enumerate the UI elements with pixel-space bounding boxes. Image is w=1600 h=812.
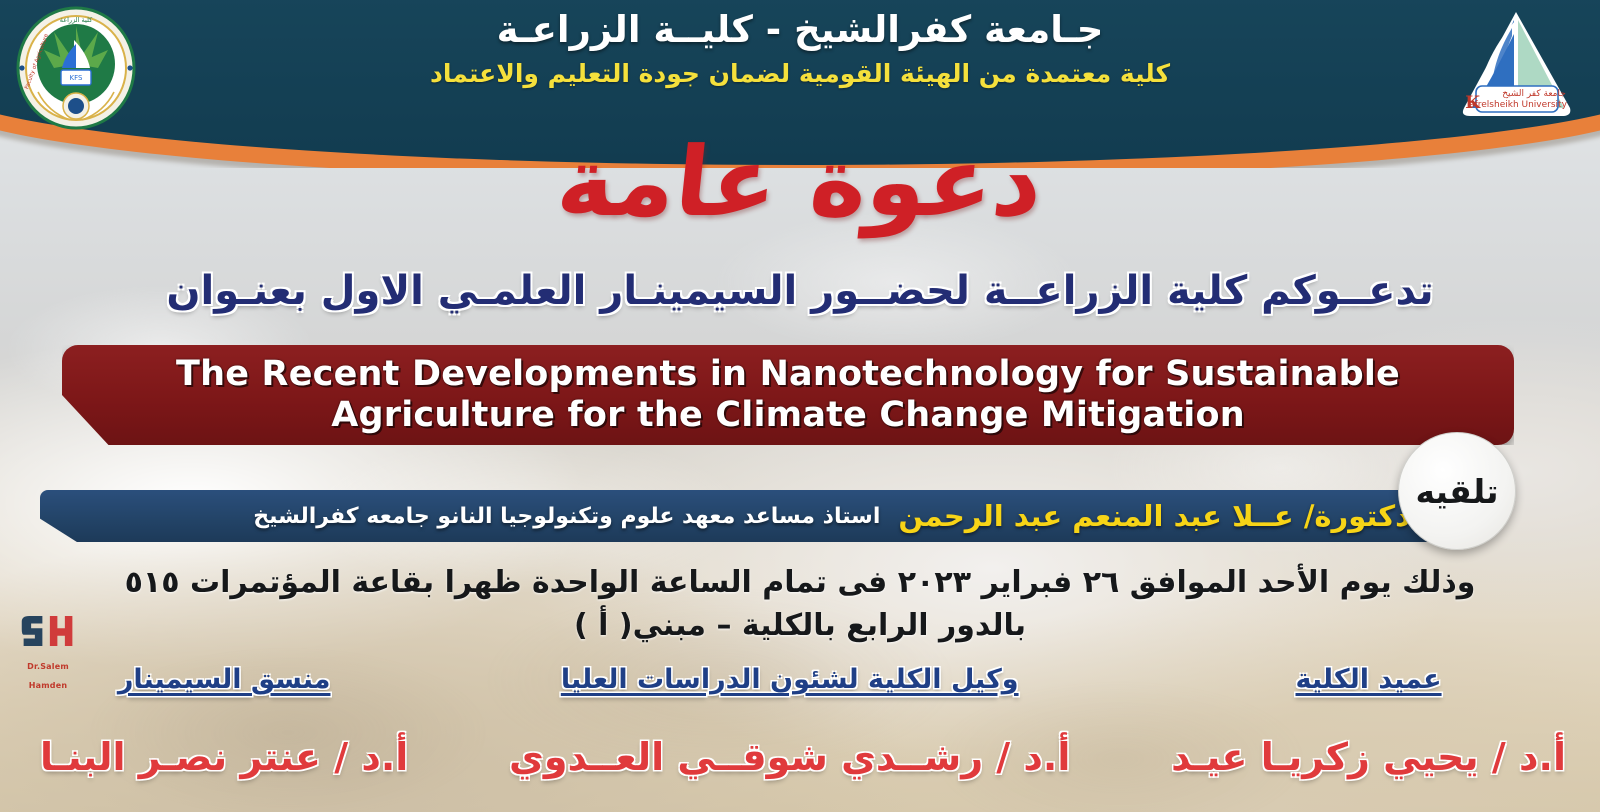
signature-vice-dean: وكيل الكلية لشئون الدراسات العليا أ.د / … [509,664,1070,779]
seminar-poster: جـامعة كفرالشيخ - كليــة الزراعـة كلية م… [0,0,1600,812]
seminar-title-banner: The Recent Developments in Nanotechnolog… [62,345,1514,445]
kafrelsheikh-university-logo-icon: جامعة كفر الشيخ afrelsheikh University K [1450,4,1582,134]
general-invitation-calligraphy: دعوة عامة [0,122,1600,242]
signature-name: أ.د / يحيي زكريـا عيـد [1171,735,1566,779]
event-date-line: وذلك يوم الأحد الموافق ٢٦ فبراير ٢٠٢٣ فى… [0,562,1600,605]
svg-text:كلية الزراعة: كلية الزراعة [60,16,93,24]
signature-role: عميد الكلية [1171,664,1566,695]
designer-name: Dr.Salem Hamden [27,662,69,690]
signature-role: منسق السيمينار [40,664,408,695]
svg-text:K: K [1465,93,1481,113]
delivered-by-badge: تلقيه [1398,432,1516,550]
invitation-line: تدعــوكم كلية الزراعــة لحضــور السيمينـ… [0,268,1600,314]
svg-text:جامعة كفر الشيخ: جامعة كفر الشيخ [1502,89,1566,99]
signature-coordinator: منسق السيمينار أ.د / عنتر نصـر البنـا [40,664,408,779]
event-venue-line: بالدور الرابع بالكلية – مبني( أ ) [0,605,1600,648]
delivered-by-label: تلقيه [1415,472,1498,511]
university-name: جـامعة كفرالشيخ - كليــة الزراعـة [0,8,1600,51]
accreditation-note: كلية معتمدة من الهيئة القومية لضمان جودة… [0,59,1600,88]
sh-monogram-icon [12,612,84,654]
designer-credit: Dr.Salem Hamden [12,612,84,692]
speaker-name: دكتورة/ عــلا عبد المنعم عبد الرحمن [898,499,1410,533]
signature-name: أ.د / عنتر نصـر البنـا [40,735,408,779]
svg-text:KFS: KFS [70,74,83,82]
svg-text:afrelsheikh University: afrelsheikh University [1469,100,1568,110]
signature-dean: عميد الكلية أ.د / يحيي زكريـا عيـد [1171,664,1566,779]
signature-name: أ.د / رشــدي شوقــي العــدوي [509,735,1070,779]
seminar-title-text: The Recent Developments in Nanotechnolog… [136,354,1440,437]
speaker-banner: دكتورة/ عــلا عبد المنعم عبد الرحمن استا… [40,490,1460,542]
event-details: وذلك يوم الأحد الموافق ٢٦ فبراير ٢٠٢٣ فى… [0,562,1600,647]
seminar-title-line1: The Recent Developments in Nanotechnolog… [176,354,1400,395]
calligraphy-text: دعوة عامة [551,122,1048,242]
header-title-group: جـامعة كفرالشيخ - كليــة الزراعـة كلية م… [0,8,1600,88]
speaker-affiliation: استاذ مساعد معهد علوم وتكنولوجيا النانو … [253,504,880,529]
seminar-title-line2: Agriculture for the Climate Change Mitig… [176,395,1400,436]
signature-role: وكيل الكلية لشئون الدراسات العليا [509,664,1070,695]
faculty-of-agriculture-seal-icon: KFS كلية الزراعة Faculty of Agriculture [14,6,138,130]
signature-row: منسق السيمينار أ.د / عنتر نصـر البنـا وك… [0,664,1600,812]
